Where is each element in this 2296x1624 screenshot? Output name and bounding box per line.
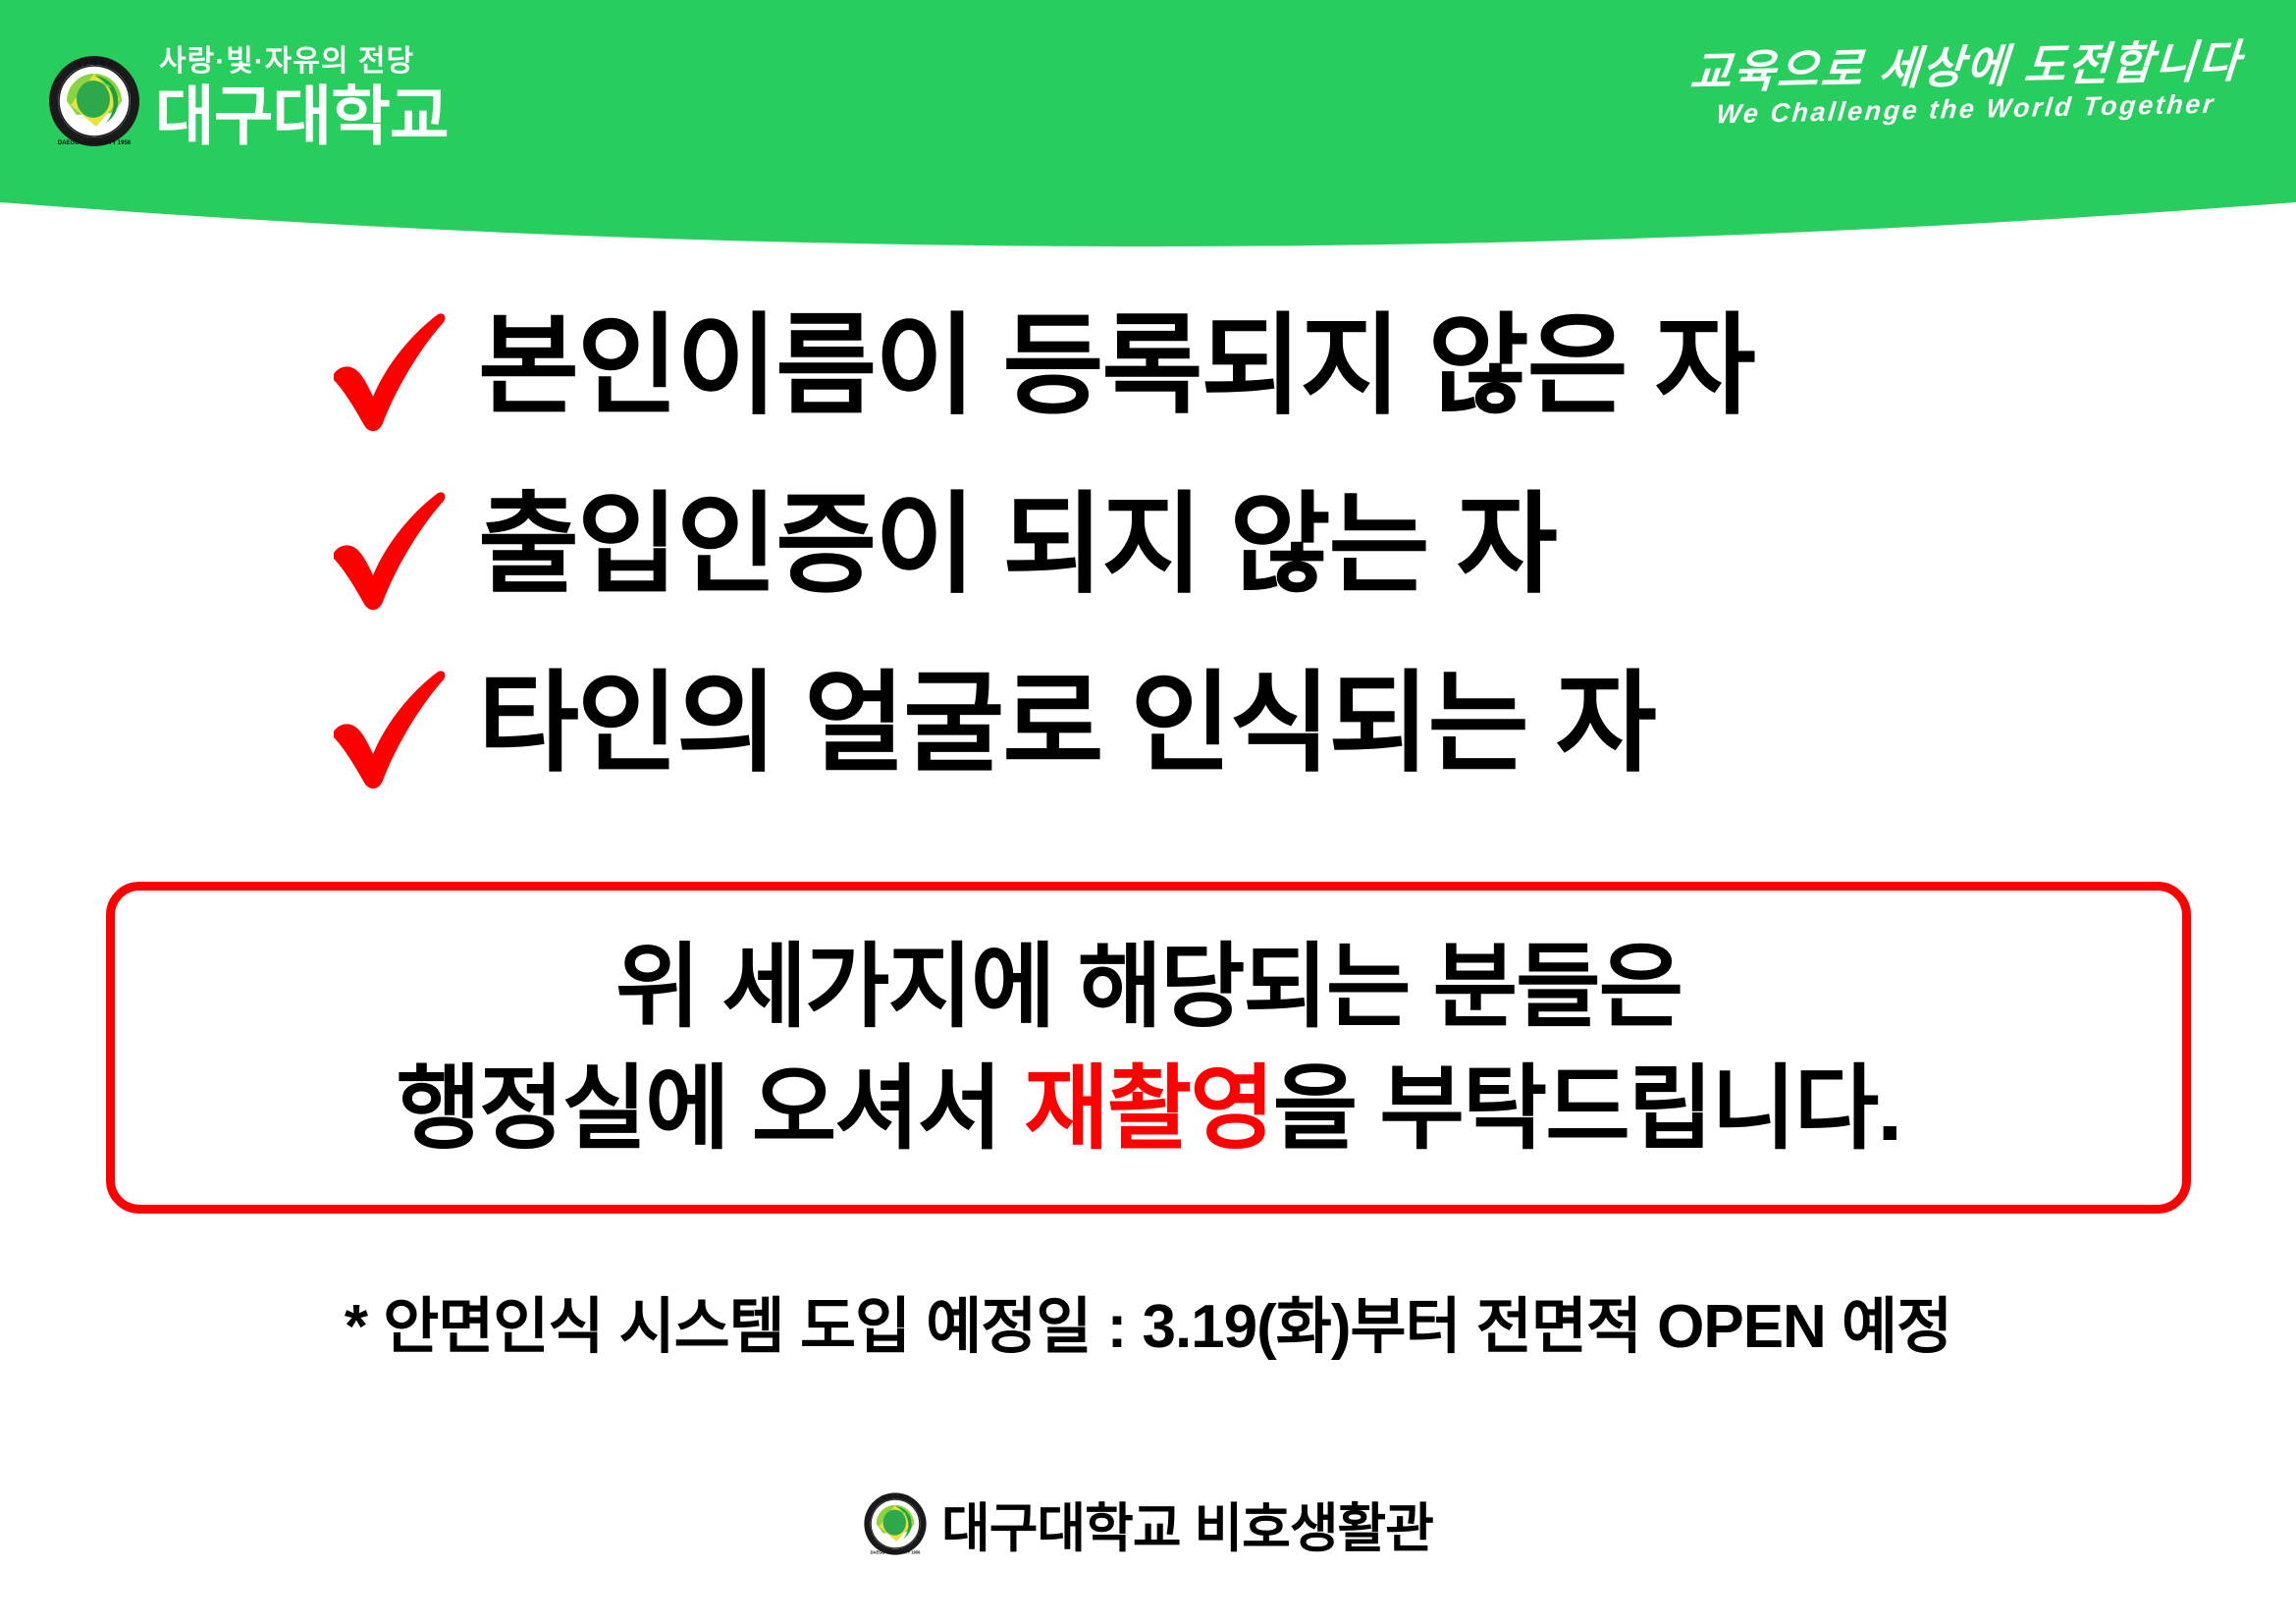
header-curve-shape	[0, 0, 2296, 295]
poster-canvas: 대 구 대 학 교 DAEGU UNIVERSITY 1956 사랑·빛·자유의…	[0, 0, 2296, 1624]
checklist-item: 본인이름이 등록되지 않은 자	[0, 277, 2296, 456]
callout-highlight: 재촬영	[1024, 1056, 1272, 1160]
check-icon	[324, 303, 456, 436]
callout-line-2-after: 을 부탁드립니다.	[1273, 1056, 1901, 1160]
footer: 대 구 대 학 교 DAEGU UNIVERSITY 1956 대구대학교 비호…	[0, 1485, 2296, 1562]
checklist-item: 타인의 얼굴로 인식되는 자	[0, 634, 2296, 813]
check-icon	[324, 482, 456, 615]
checklist-item-label: 타인의 얼굴로 인식되는 자	[478, 669, 1655, 779]
callout-box: 위 세가지에 해당되는 분들은 행정실에 오셔서 재촬영을 부탁드립니다.	[106, 882, 2191, 1214]
checklist-item: 출입인증이 되지 않는 자	[0, 456, 2296, 634]
header-band	[0, 0, 2296, 295]
checklist-item-label: 출입인증이 되지 않는 자	[478, 490, 1556, 600]
callout-line-1: 위 세가지에 해당되는 분들은	[615, 926, 1682, 1048]
schedule-note: * 안면인식 시스템 도입 예정일 : 3.19(화)부터 전면적 OPEN 예…	[0, 1276, 2296, 1365]
footer-organization: 대구대학교 비호생활관	[941, 1485, 1433, 1562]
footer-emblem-icon: 대 구 대 학 교 DAEGU UNIVERSITY 1956	[863, 1491, 928, 1556]
callout-line-2: 행정실에 오셔서 재촬영을 부탁드립니다.	[397, 1048, 1901, 1169]
check-icon	[324, 661, 456, 793]
checklist-item-label: 본인이름이 등록되지 않은 자	[478, 311, 1754, 421]
svg-text:DAEGU UNIVERSITY 1956: DAEGU UNIVERSITY 1956	[871, 1549, 922, 1554]
checklist: 본인이름이 등록되지 않은 자 출입인증이 되지 않는 자 타인의 얼굴로 인식…	[0, 277, 2296, 813]
callout-line-2-before: 행정실에 오셔서	[397, 1056, 1025, 1160]
